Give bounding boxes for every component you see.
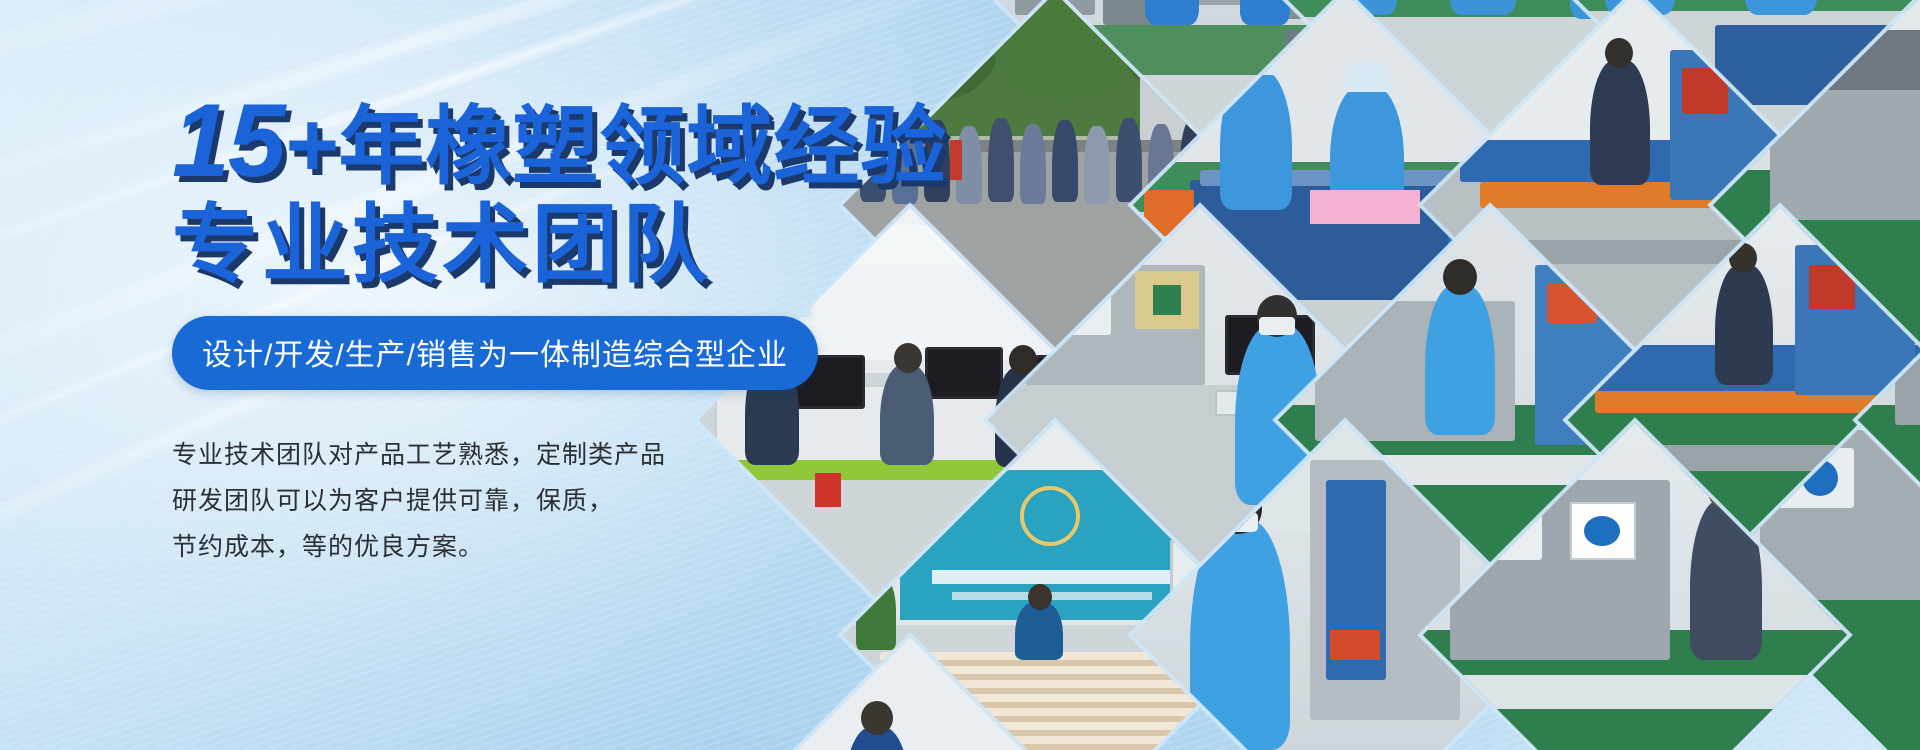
services-pill[interactable]: 设计/开发/生产/销售为一体制造综合型企业 (172, 316, 818, 390)
description-line-1: 专业技术团队对产品工艺熟悉，定制类产品 (172, 432, 932, 478)
description-line-2: 研发团队可以为客户提供可靠，保质， (172, 478, 932, 524)
headline-line-2: 专业技术团队 (172, 202, 932, 290)
promo-banner: 15+年橡塑领域经验 专业技术团队 设计/开发/生产/销售为一体制造综合型企业 … (0, 0, 1920, 750)
description-paragraph: 专业技术团队对产品工艺熟悉，定制类产品 研发团队可以为客户提供可靠，保质， 节约… (172, 432, 932, 571)
headline-line-1: 15+年橡塑领域经验 (172, 88, 932, 194)
description-line-3: 节约成本，等的优良方案。 (172, 524, 932, 570)
years-number: 15 (172, 83, 284, 199)
headline-line-1-text: 年橡塑领域经验 (338, 99, 947, 195)
banner-copy: 15+年橡塑领域经验 专业技术团队 设计/开发/生产/销售为一体制造综合型企业 … (172, 88, 932, 571)
plus-sign: + (284, 94, 339, 196)
